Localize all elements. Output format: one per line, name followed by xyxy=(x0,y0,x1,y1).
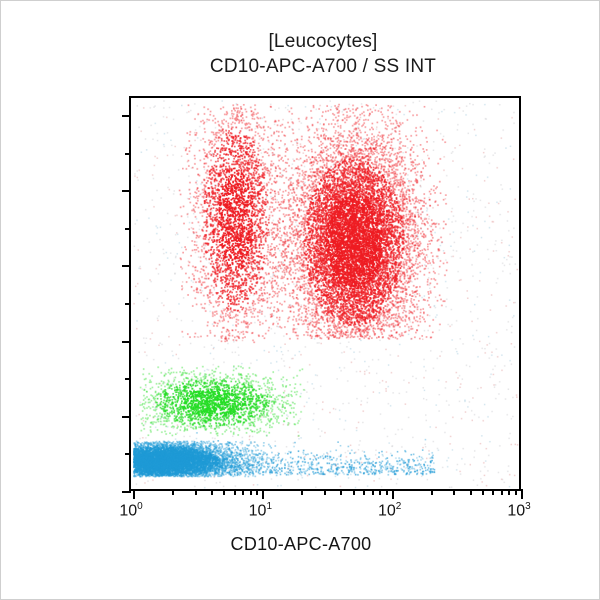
y-major-tick xyxy=(122,491,131,493)
x-minor-tick xyxy=(470,489,472,495)
x-minor-tick xyxy=(431,489,433,495)
x-minor-tick xyxy=(211,489,213,495)
x-minor-tick xyxy=(363,489,365,495)
y-minor-tick xyxy=(125,303,131,305)
x-minor-tick xyxy=(340,489,342,495)
x-minor-tick xyxy=(234,489,236,495)
flow-cytometry-dotplot: [Leucocytes] CD10-APC-A700 / SS INT 0200… xyxy=(0,0,600,600)
y-major-tick xyxy=(122,341,131,343)
y-minor-tick xyxy=(125,153,131,155)
plot-title-gate: [Leucocytes] xyxy=(1,29,600,54)
x-minor-tick xyxy=(242,489,244,495)
y-minor-tick xyxy=(125,228,131,230)
y-major-tick xyxy=(122,416,131,418)
x-major-tick xyxy=(392,489,394,499)
x-tick-label: 102 xyxy=(345,501,435,520)
x-minor-tick xyxy=(372,489,374,495)
x-minor-tick xyxy=(324,489,326,495)
scatter-canvas xyxy=(131,98,519,489)
x-minor-tick xyxy=(256,489,258,495)
x-minor-tick xyxy=(453,489,455,495)
y-major-tick xyxy=(122,115,131,117)
x-minor-tick xyxy=(301,489,303,495)
x-minor-tick xyxy=(223,489,225,495)
x-minor-tick xyxy=(250,489,252,495)
x-tick-label: 100 xyxy=(86,501,176,520)
x-major-tick xyxy=(521,489,523,499)
x-minor-tick xyxy=(482,489,484,495)
y-minor-tick xyxy=(125,378,131,380)
plot-title-parameters: CD10-APC-A700 / SS INT xyxy=(1,54,600,79)
x-axis-title: CD10-APC-A700 xyxy=(1,534,600,555)
x-minor-tick xyxy=(492,489,494,495)
plot-frame xyxy=(129,96,521,491)
x-major-tick xyxy=(133,489,135,499)
x-minor-tick xyxy=(386,489,388,495)
x-major-tick xyxy=(262,489,264,499)
x-minor-tick xyxy=(515,489,517,495)
x-minor-tick xyxy=(172,489,174,495)
x-tick-label: 101 xyxy=(215,501,305,520)
x-tick-label: 103 xyxy=(474,501,564,520)
x-minor-tick xyxy=(501,489,503,495)
plot-title: [Leucocytes] CD10-APC-A700 / SS INT xyxy=(1,29,600,79)
x-minor-tick xyxy=(353,489,355,495)
y-major-tick xyxy=(122,265,131,267)
x-minor-tick xyxy=(508,489,510,495)
y-minor-tick xyxy=(125,453,131,455)
x-minor-tick xyxy=(379,489,381,495)
x-minor-tick xyxy=(195,489,197,495)
y-major-tick xyxy=(122,190,131,192)
